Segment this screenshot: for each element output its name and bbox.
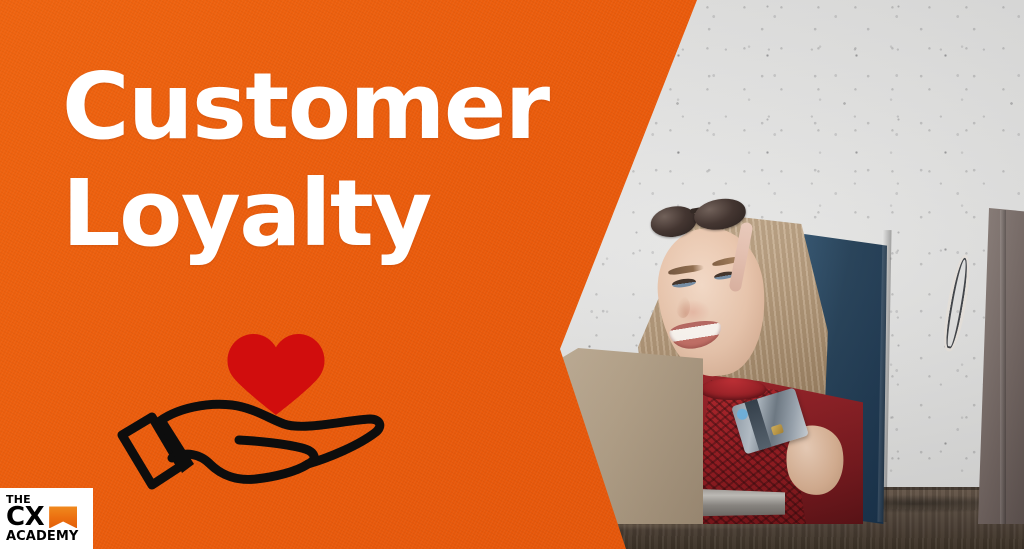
logo-middle-row: CX	[6, 506, 89, 529]
page-title: Customer Loyalty	[62, 54, 662, 267]
logo-the-cx-academy[interactable]: THE CX ACADEMY	[0, 488, 93, 549]
hand-holding-heart-icon	[108, 322, 408, 502]
bookmark-ribbon-icon	[49, 506, 77, 528]
blue-shopping-bag-back	[884, 227, 994, 523]
headline-line-1: Customer	[62, 53, 549, 160]
credit-card-stripe	[745, 399, 772, 451]
blouse-collar-ruffle	[700, 378, 766, 400]
logo-cx-text: CX	[6, 506, 44, 529]
logo-academy-text: ACADEMY	[6, 530, 89, 543]
headline-line-2: Loyalty	[62, 161, 662, 268]
promo-banner: Customer Loyalty THE	[0, 0, 1024, 549]
brown-bag-crease	[1000, 210, 1006, 524]
credit-card-chip	[771, 424, 784, 436]
